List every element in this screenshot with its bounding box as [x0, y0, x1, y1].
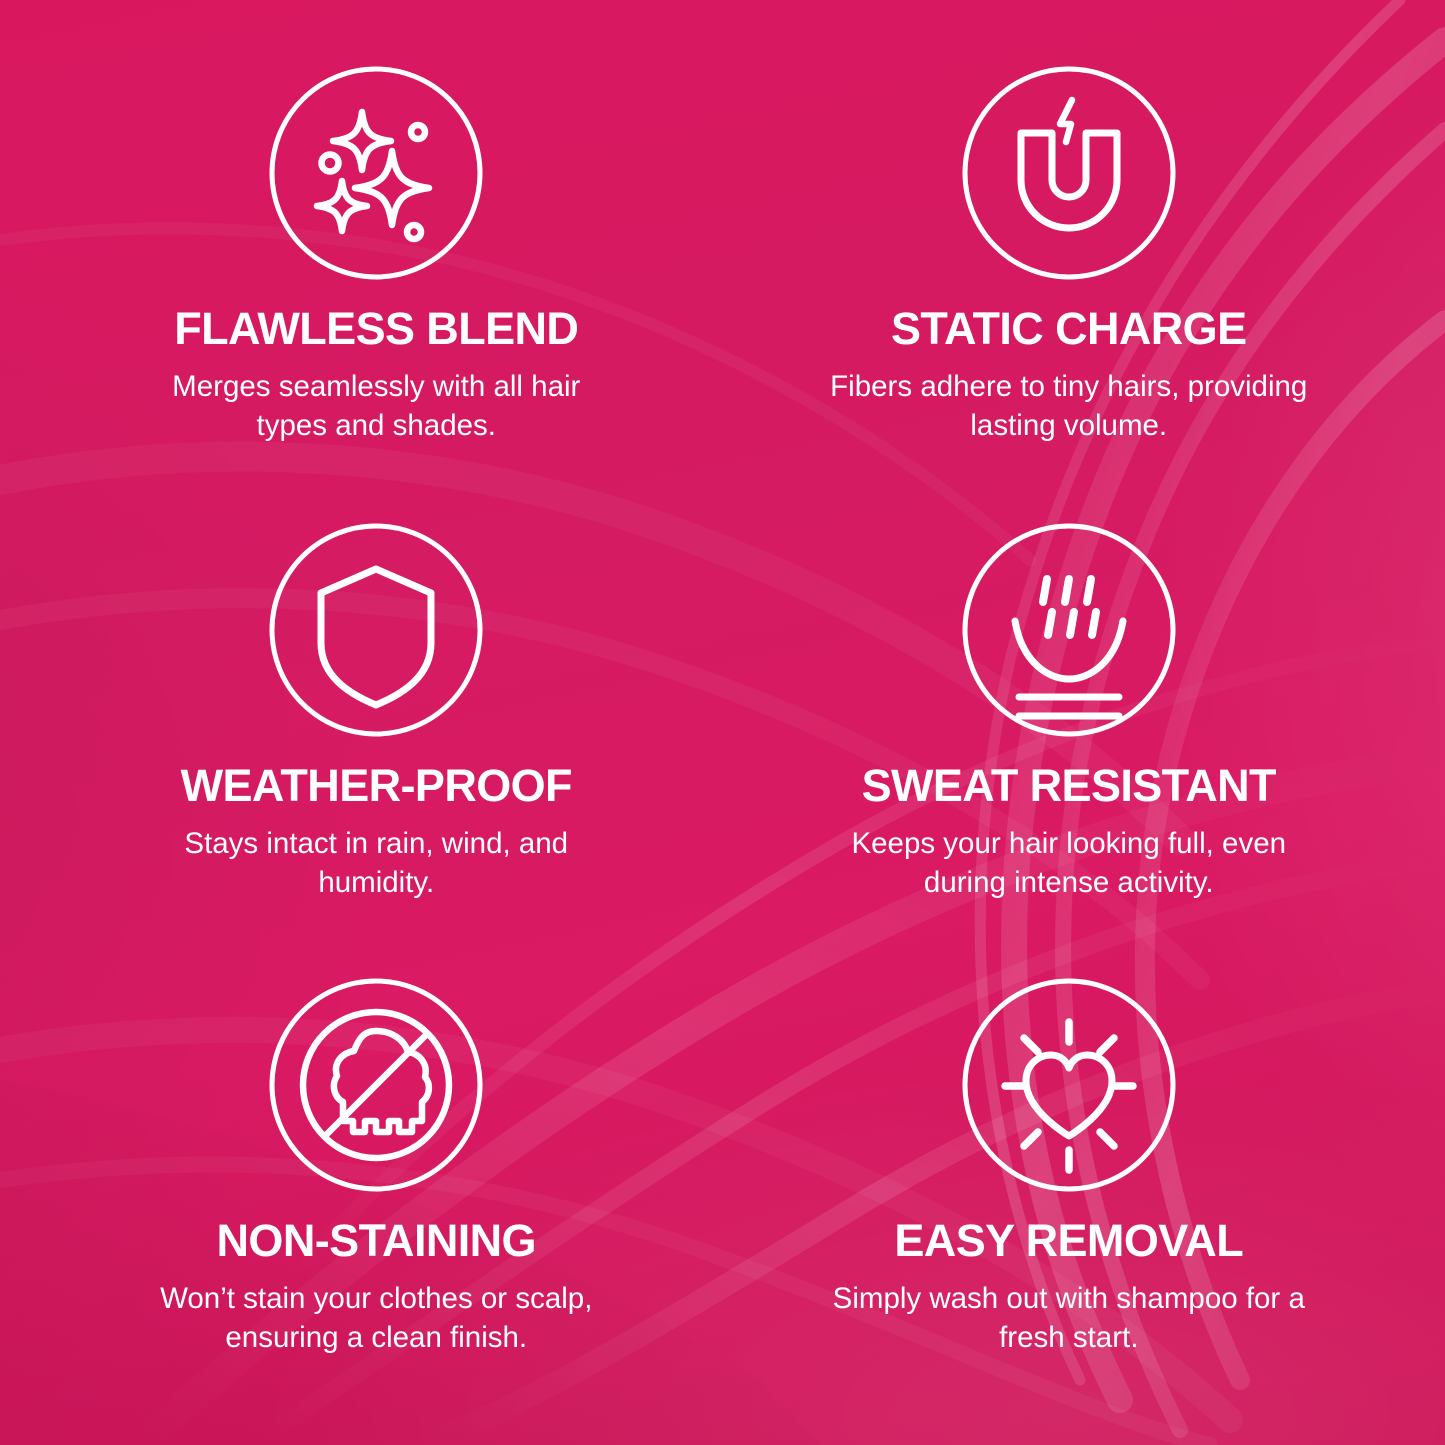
feature-card-easy-removal: EASY REMOVAL Simply wash out with shampo…: [723, 960, 1416, 1419]
feature-title: SWEAT RESISTANT: [862, 763, 1276, 809]
feature-title: NON-STAINING: [217, 1218, 536, 1264]
sparkles-icon: [265, 62, 487, 284]
feature-infographic: FLAWLESS BLEND Merges seamlessly with al…: [0, 0, 1445, 1445]
feature-card-non-staining: NON-STAINING Won’t stain your clothes or…: [30, 960, 723, 1419]
water-repellent-icon: [958, 519, 1180, 741]
magnet-icon: [958, 62, 1180, 284]
feature-description: Simply wash out with shampoo for a fresh…: [829, 1280, 1309, 1358]
feature-card-static-charge: STATIC CHARGE Fibers adhere to tiny hair…: [723, 42, 1416, 501]
feature-grid: FLAWLESS BLEND Merges seamlessly with al…: [0, 0, 1445, 1445]
feature-description: Keeps your hair looking full, even durin…: [829, 825, 1309, 903]
feature-title: EASY REMOVAL: [894, 1218, 1243, 1264]
feature-title: STATIC CHARGE: [891, 306, 1247, 352]
no-stain-icon: [265, 974, 487, 1196]
feature-card-flawless-blend: FLAWLESS BLEND Merges seamlessly with al…: [30, 42, 723, 501]
feature-description: Fibers adhere to tiny hairs, providing l…: [829, 368, 1309, 446]
feature-description: Stays intact in rain, wind, and humidity…: [136, 825, 616, 903]
shining-heart-icon: [958, 974, 1180, 1196]
feature-title: FLAWLESS BLEND: [174, 306, 578, 352]
feature-description: Merges seamlessly with all hair types an…: [136, 368, 616, 446]
shield-icon: [265, 519, 487, 741]
feature-title: WEATHER-PROOF: [181, 763, 572, 809]
feature-card-sweat-resistant: SWEAT RESISTANT Keeps your hair looking …: [723, 501, 1416, 960]
feature-card-weather-proof: WEATHER-PROOF Stays intact in rain, wind…: [30, 501, 723, 960]
feature-description: Won’t stain your clothes or scalp, ensur…: [136, 1280, 616, 1358]
